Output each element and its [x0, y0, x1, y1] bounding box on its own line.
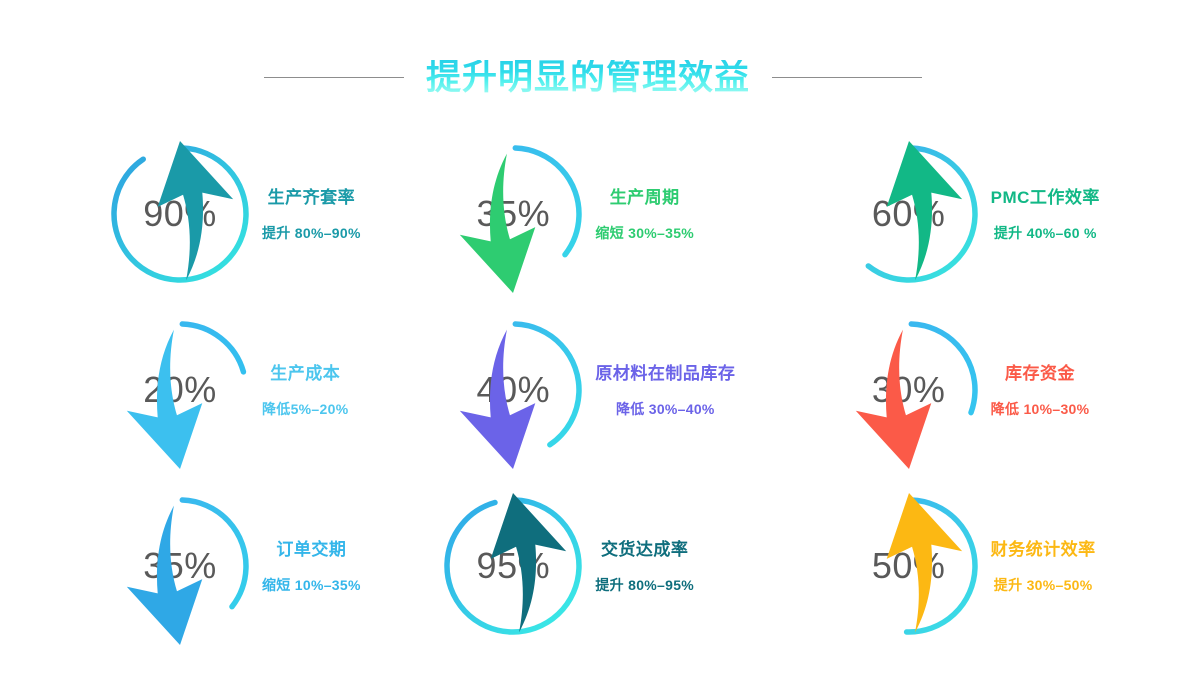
metric-labels: 原材料在制品库存降低 30%–40%: [595, 365, 735, 416]
arrow-up-icon: [833, 141, 985, 293]
arrow-down-icon: [104, 317, 256, 469]
page-header: 提升明显的管理效益: [0, 52, 1186, 102]
gauge-ring: 95%: [437, 490, 589, 642]
page-title: 提升明显的管理效益: [426, 60, 750, 95]
gauge-center: 40%: [437, 314, 589, 466]
gauge-ring: 35%: [104, 490, 256, 642]
gauge-center: 35%: [104, 490, 256, 642]
metric-subtitle: 降低 30%–40%: [616, 402, 715, 416]
metric-labels: 生产周期缩短 30%–35%: [595, 189, 694, 240]
metric-card[interactable]: 60%PMC工作效率提升 40%–60 %: [791, 126, 1186, 302]
metric-subtitle: 提升 80%–95%: [595, 578, 694, 592]
metric-title: 库存资金: [1005, 365, 1075, 382]
metric-card[interactable]: 30%库存资金降低 10%–30%: [791, 302, 1186, 478]
arrow-down-icon: [833, 317, 985, 469]
metric-labels: 交货达成率提升 80%–95%: [595, 541, 694, 592]
gauge-ring: 60%: [833, 138, 985, 290]
metric-labels: 生产齐套率提升 80%–90%: [262, 189, 361, 240]
metrics-grid: 90%生产齐套率提升 80%–90%35%生产周期缩短 30%–35%60%PM…: [0, 126, 1186, 654]
arrow-up-icon: [104, 141, 256, 293]
metric-card[interactable]: 20%生产成本降低5%–20%: [0, 302, 395, 478]
metric-labels: 财务统计效率提升 30%–50%: [991, 541, 1096, 592]
metric-card[interactable]: 50%财务统计效率提升 30%–50%: [791, 478, 1186, 654]
gauge-ring: 90%: [104, 138, 256, 290]
metric-card[interactable]: 90%生产齐套率提升 80%–90%: [0, 126, 395, 302]
metric-title: 财务统计效率: [991, 541, 1096, 558]
metric-subtitle: 缩短 10%–35%: [262, 578, 361, 592]
arrow-down-icon: [437, 317, 589, 469]
metric-title: 订单交期: [276, 541, 346, 558]
gauge-center: 90%: [104, 138, 256, 290]
metric-subtitle: 降低 10%–30%: [991, 402, 1090, 416]
gauge-center: 35%: [437, 138, 589, 290]
metric-title: 生产齐套率: [268, 189, 356, 206]
gauge-ring: 50%: [833, 490, 985, 642]
metric-card[interactable]: 40%原材料在制品库存降低 30%–40%: [395, 302, 790, 478]
metric-labels: 订单交期缩短 10%–35%: [262, 541, 361, 592]
metric-subtitle: 提升 80%–90%: [262, 226, 361, 240]
gauge-center: 20%: [104, 314, 256, 466]
infographic-page: 提升明显的管理效益 90%生产齐套率提升 80%–90%35%生产周期缩短 30…: [0, 0, 1186, 684]
metric-subtitle: 提升 40%–60 %: [994, 226, 1097, 240]
metric-labels: PMC工作效率提升 40%–60 %: [991, 189, 1100, 240]
metric-subtitle: 提升 30%–50%: [994, 578, 1093, 592]
metric-title: 生产成本: [270, 365, 340, 382]
gauge-center: 95%: [437, 490, 589, 642]
gauge-ring: 40%: [437, 314, 589, 466]
header-rule-right: [772, 77, 922, 78]
metric-card[interactable]: 35%生产周期缩短 30%–35%: [395, 126, 790, 302]
arrow-down-icon: [104, 493, 256, 645]
metric-labels: 库存资金降低 10%–30%: [991, 365, 1090, 416]
gauge-center: 60%: [833, 138, 985, 290]
metric-labels: 生产成本降低5%–20%: [262, 365, 348, 416]
arrow-down-icon: [437, 141, 589, 293]
arrow-up-icon: [833, 493, 985, 645]
gauge-center: 50%: [833, 490, 985, 642]
metric-subtitle: 降低5%–20%: [262, 402, 348, 416]
gauge-ring: 30%: [833, 314, 985, 466]
metric-title: 原材料在制品库存: [595, 365, 735, 382]
metric-title: 生产周期: [610, 189, 680, 206]
gauge-ring: 20%: [104, 314, 256, 466]
header-rule-left: [264, 77, 404, 78]
metric-card[interactable]: 35%订单交期缩短 10%–35%: [0, 478, 395, 654]
arrow-up-icon: [437, 493, 589, 645]
metric-subtitle: 缩短 30%–35%: [595, 226, 694, 240]
gauge-ring: 35%: [437, 138, 589, 290]
gauge-center: 30%: [833, 314, 985, 466]
metric-title: 交货达成率: [601, 541, 689, 558]
metric-card[interactable]: 95%交货达成率提升 80%–95%: [395, 478, 790, 654]
metric-title: PMC工作效率: [991, 189, 1100, 206]
